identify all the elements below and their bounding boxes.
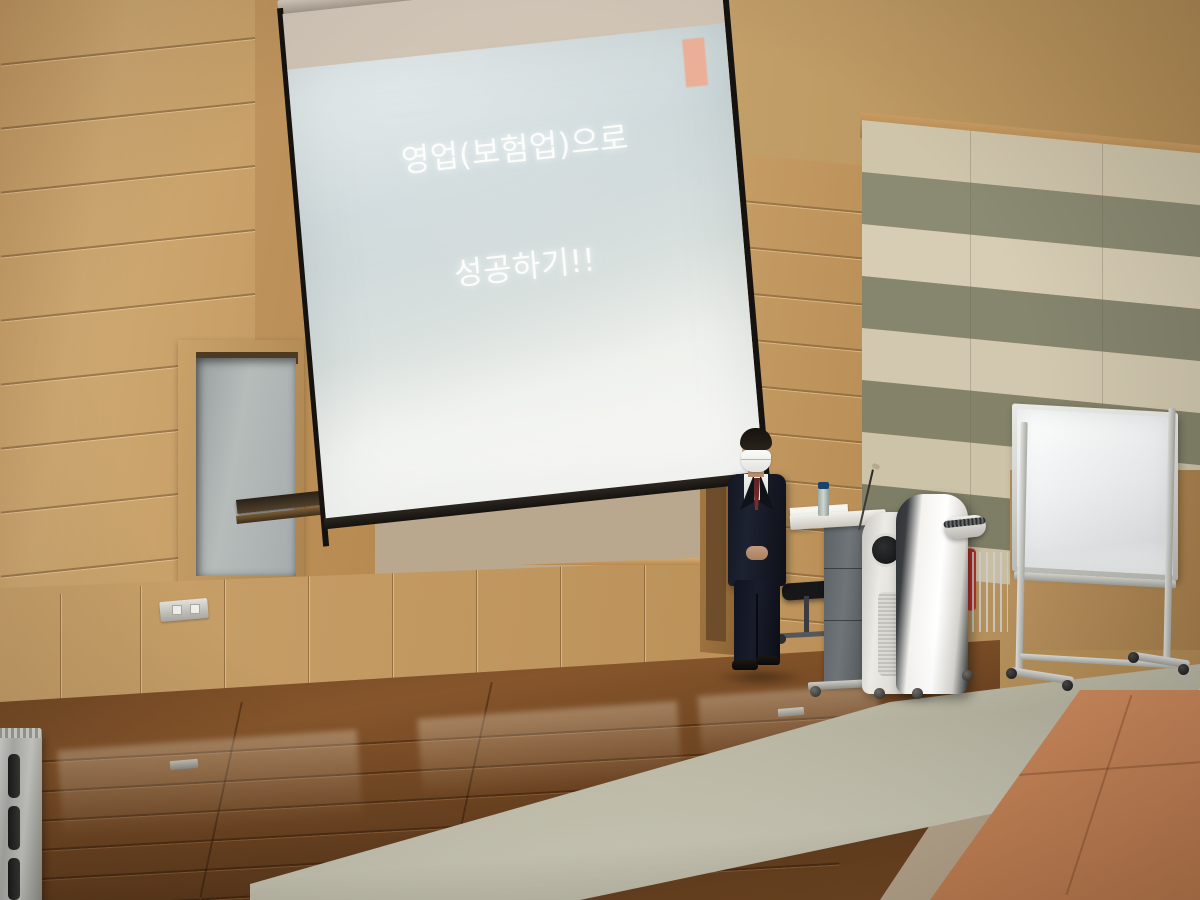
screen-lower-wash (313, 322, 763, 520)
clasped-hands (746, 546, 768, 560)
wall-outlet-icon (190, 604, 200, 614)
chair-chrome-legs (972, 552, 1008, 632)
presenter (722, 428, 792, 678)
water-bottle (818, 488, 829, 516)
slide-surface: 영업(보험업)으로 성공하기!! (287, 23, 763, 520)
whiteboard-caster (1062, 680, 1073, 691)
lectern-caster (810, 686, 821, 697)
bottle-cap (818, 482, 829, 489)
slide-accent-block (682, 37, 708, 87)
lecture-hall-photo: 영업(보험업)으로 성공하기!! (0, 0, 1200, 900)
wall-outlet-plate (159, 598, 209, 622)
projection-screen: 영업(보험업)으로 성공하기!! (282, 0, 766, 551)
whiteboard-frame (1012, 403, 1178, 580)
wall-outlet-icon (172, 605, 182, 615)
hair (740, 428, 772, 450)
face-mask-fold (741, 459, 771, 460)
whiteboard-caster (1178, 664, 1189, 675)
shoe-left (732, 660, 758, 670)
air-purifier-vent-slats (943, 517, 986, 528)
whiteboard-caster (1006, 668, 1017, 679)
whiteboard-caster (1128, 652, 1139, 663)
face-mask (741, 450, 771, 472)
mobile-whiteboard[interactable] (1012, 408, 1184, 698)
radiator (0, 734, 42, 900)
air-purifier-caster (962, 670, 973, 681)
whiteboard-surface[interactable] (1017, 409, 1173, 576)
air-purifier-caster (874, 688, 885, 699)
air-purifier-caster (912, 688, 923, 699)
recessed-sliding-panel (196, 358, 296, 576)
trouser-seam (756, 594, 758, 664)
radiator-top-grill (0, 728, 42, 738)
office-chair-post (804, 596, 809, 636)
shoe-right (756, 656, 780, 665)
